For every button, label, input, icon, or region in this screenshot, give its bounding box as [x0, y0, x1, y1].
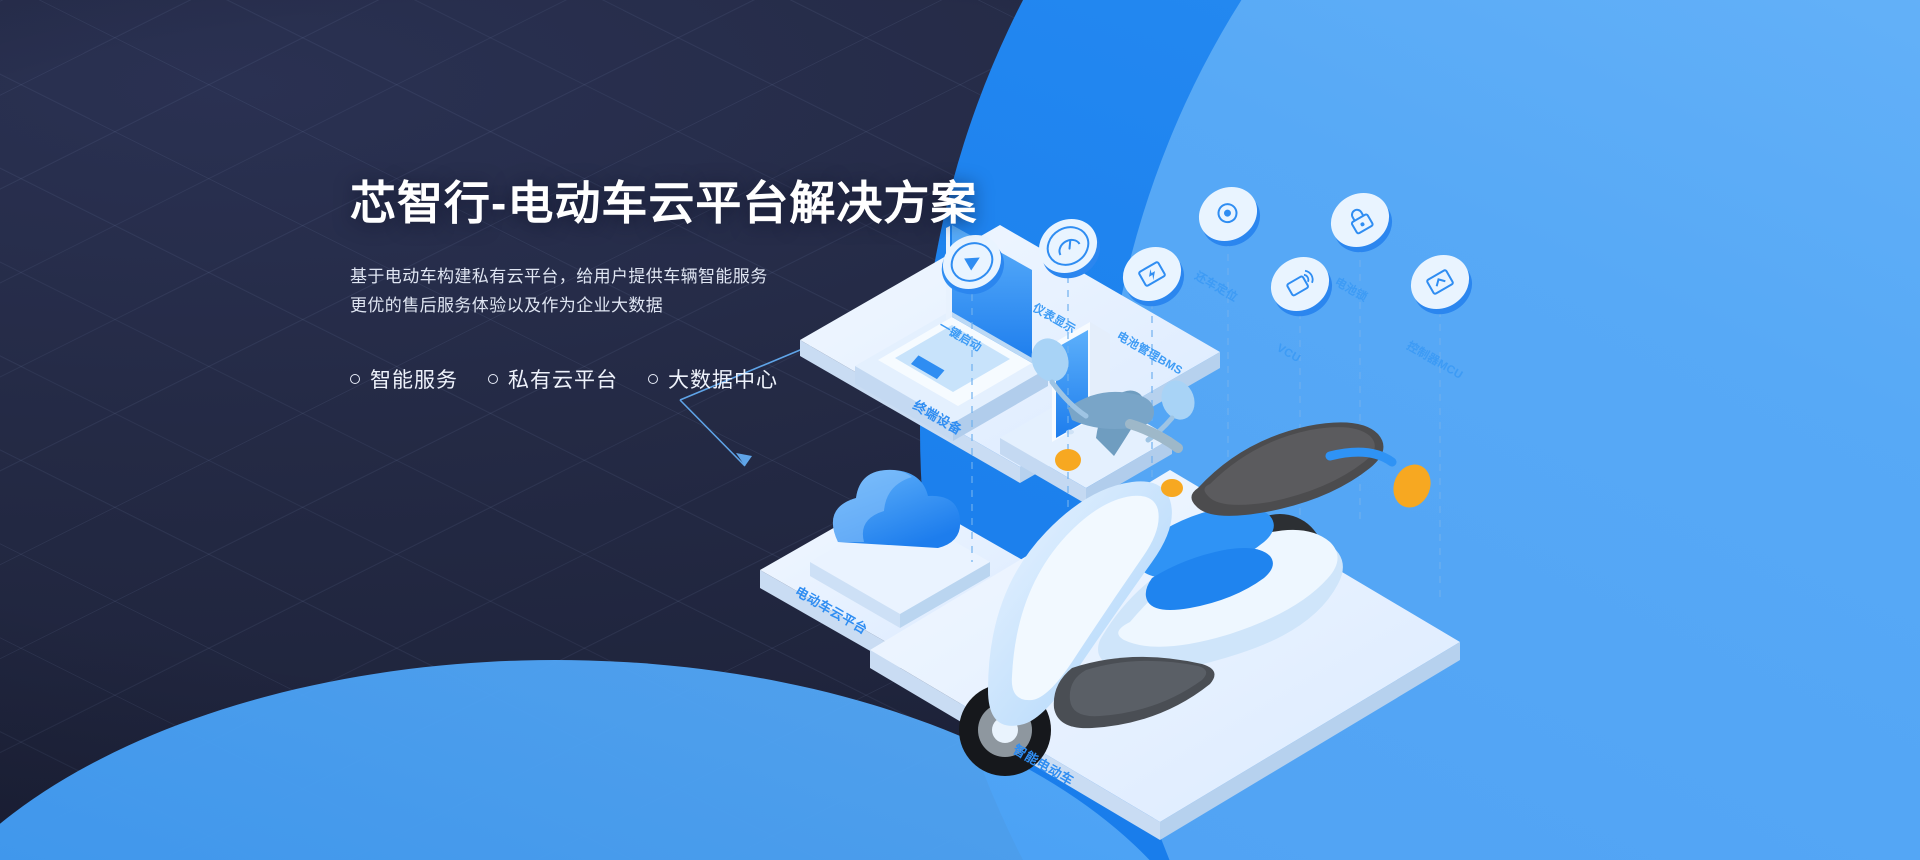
list-item[interactable]: 智能服务: [350, 364, 458, 394]
feature-node-mcu[interactable]: 控制器MCU: [1401, 244, 1482, 381]
feature-node-label: 还车定位: [1192, 268, 1241, 304]
hero-subtitle-line-2: 更优的售后服务体验以及作为企业大数据: [350, 291, 1050, 320]
cloud-icon: [833, 470, 960, 548]
list-item-label: 私有云平台: [508, 364, 618, 394]
feature-node-return-location[interactable]: 还车定位: [1189, 176, 1270, 304]
feature-node-label: 电池锁: [1333, 274, 1371, 304]
list-item-label: 大数据中心: [668, 364, 778, 394]
hero-subtitle: 基于电动车构建私有云平台，给用户提供车辆智能服务 更优的售后服务体验以及作为企业…: [350, 262, 1050, 320]
list-item[interactable]: 大数据中心: [648, 364, 778, 394]
feature-node-label: 控制器MCU: [1405, 338, 1466, 381]
circle-outline-icon: [648, 374, 658, 384]
feature-node-vcu[interactable]: VCU: [1261, 246, 1342, 365]
hero-copy: 芯智行-电动车云平台解决方案 基于电动车构建私有云平台，给用户提供车辆智能服务 …: [350, 178, 1050, 394]
list-item[interactable]: 私有云平台: [488, 364, 618, 394]
hero-subtitle-line-1: 基于电动车构建私有云平台，给用户提供车辆智能服务: [350, 262, 1050, 291]
page-title: 芯智行-电动车云平台解决方案: [350, 178, 1050, 230]
list-item-label: 智能服务: [370, 364, 458, 394]
feature-node-battery-lock[interactable]: 电池锁: [1321, 182, 1402, 304]
hero-feature-list: 智能服务 私有云平台 大数据中心: [350, 364, 1050, 394]
feature-node-label: VCU: [1275, 342, 1303, 365]
hero-banner: 芯智行-电动车云平台解决方案 基于电动车构建私有云平台，给用户提供车辆智能服务 …: [0, 0, 1920, 860]
circle-outline-icon: [350, 374, 360, 384]
circle-outline-icon: [488, 374, 498, 384]
